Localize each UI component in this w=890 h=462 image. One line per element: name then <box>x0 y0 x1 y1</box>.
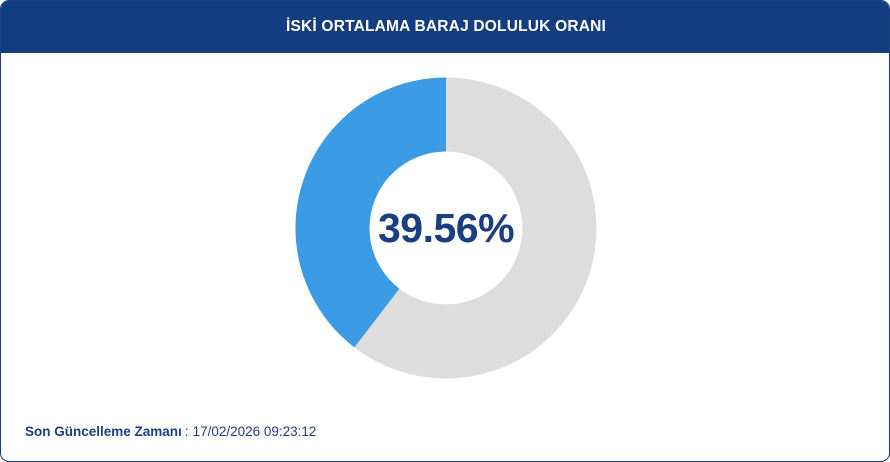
last-update-label: Son Güncelleme Zamanı <box>25 424 182 439</box>
dam-occupancy-widget: İSKİ ORTALAMA BARAJ DOLULUK ORANI 39.56%… <box>0 0 890 462</box>
donut-chart-svg <box>295 77 597 379</box>
widget-header: İSKİ ORTALAMA BARAJ DOLULUK ORANI <box>0 0 890 53</box>
donut-chart: 39.56% <box>295 77 597 379</box>
footer: Son Güncelleme Zamanı : 17/02/2026 09:23… <box>1 401 890 461</box>
last-update-separator: : <box>182 424 193 439</box>
last-update-value: 17/02/2026 09:23:12 <box>193 424 317 439</box>
chart-area: 39.56% <box>1 54 890 402</box>
page-title: İSKİ ORTALAMA BARAJ DOLULUK ORANI <box>286 18 606 36</box>
